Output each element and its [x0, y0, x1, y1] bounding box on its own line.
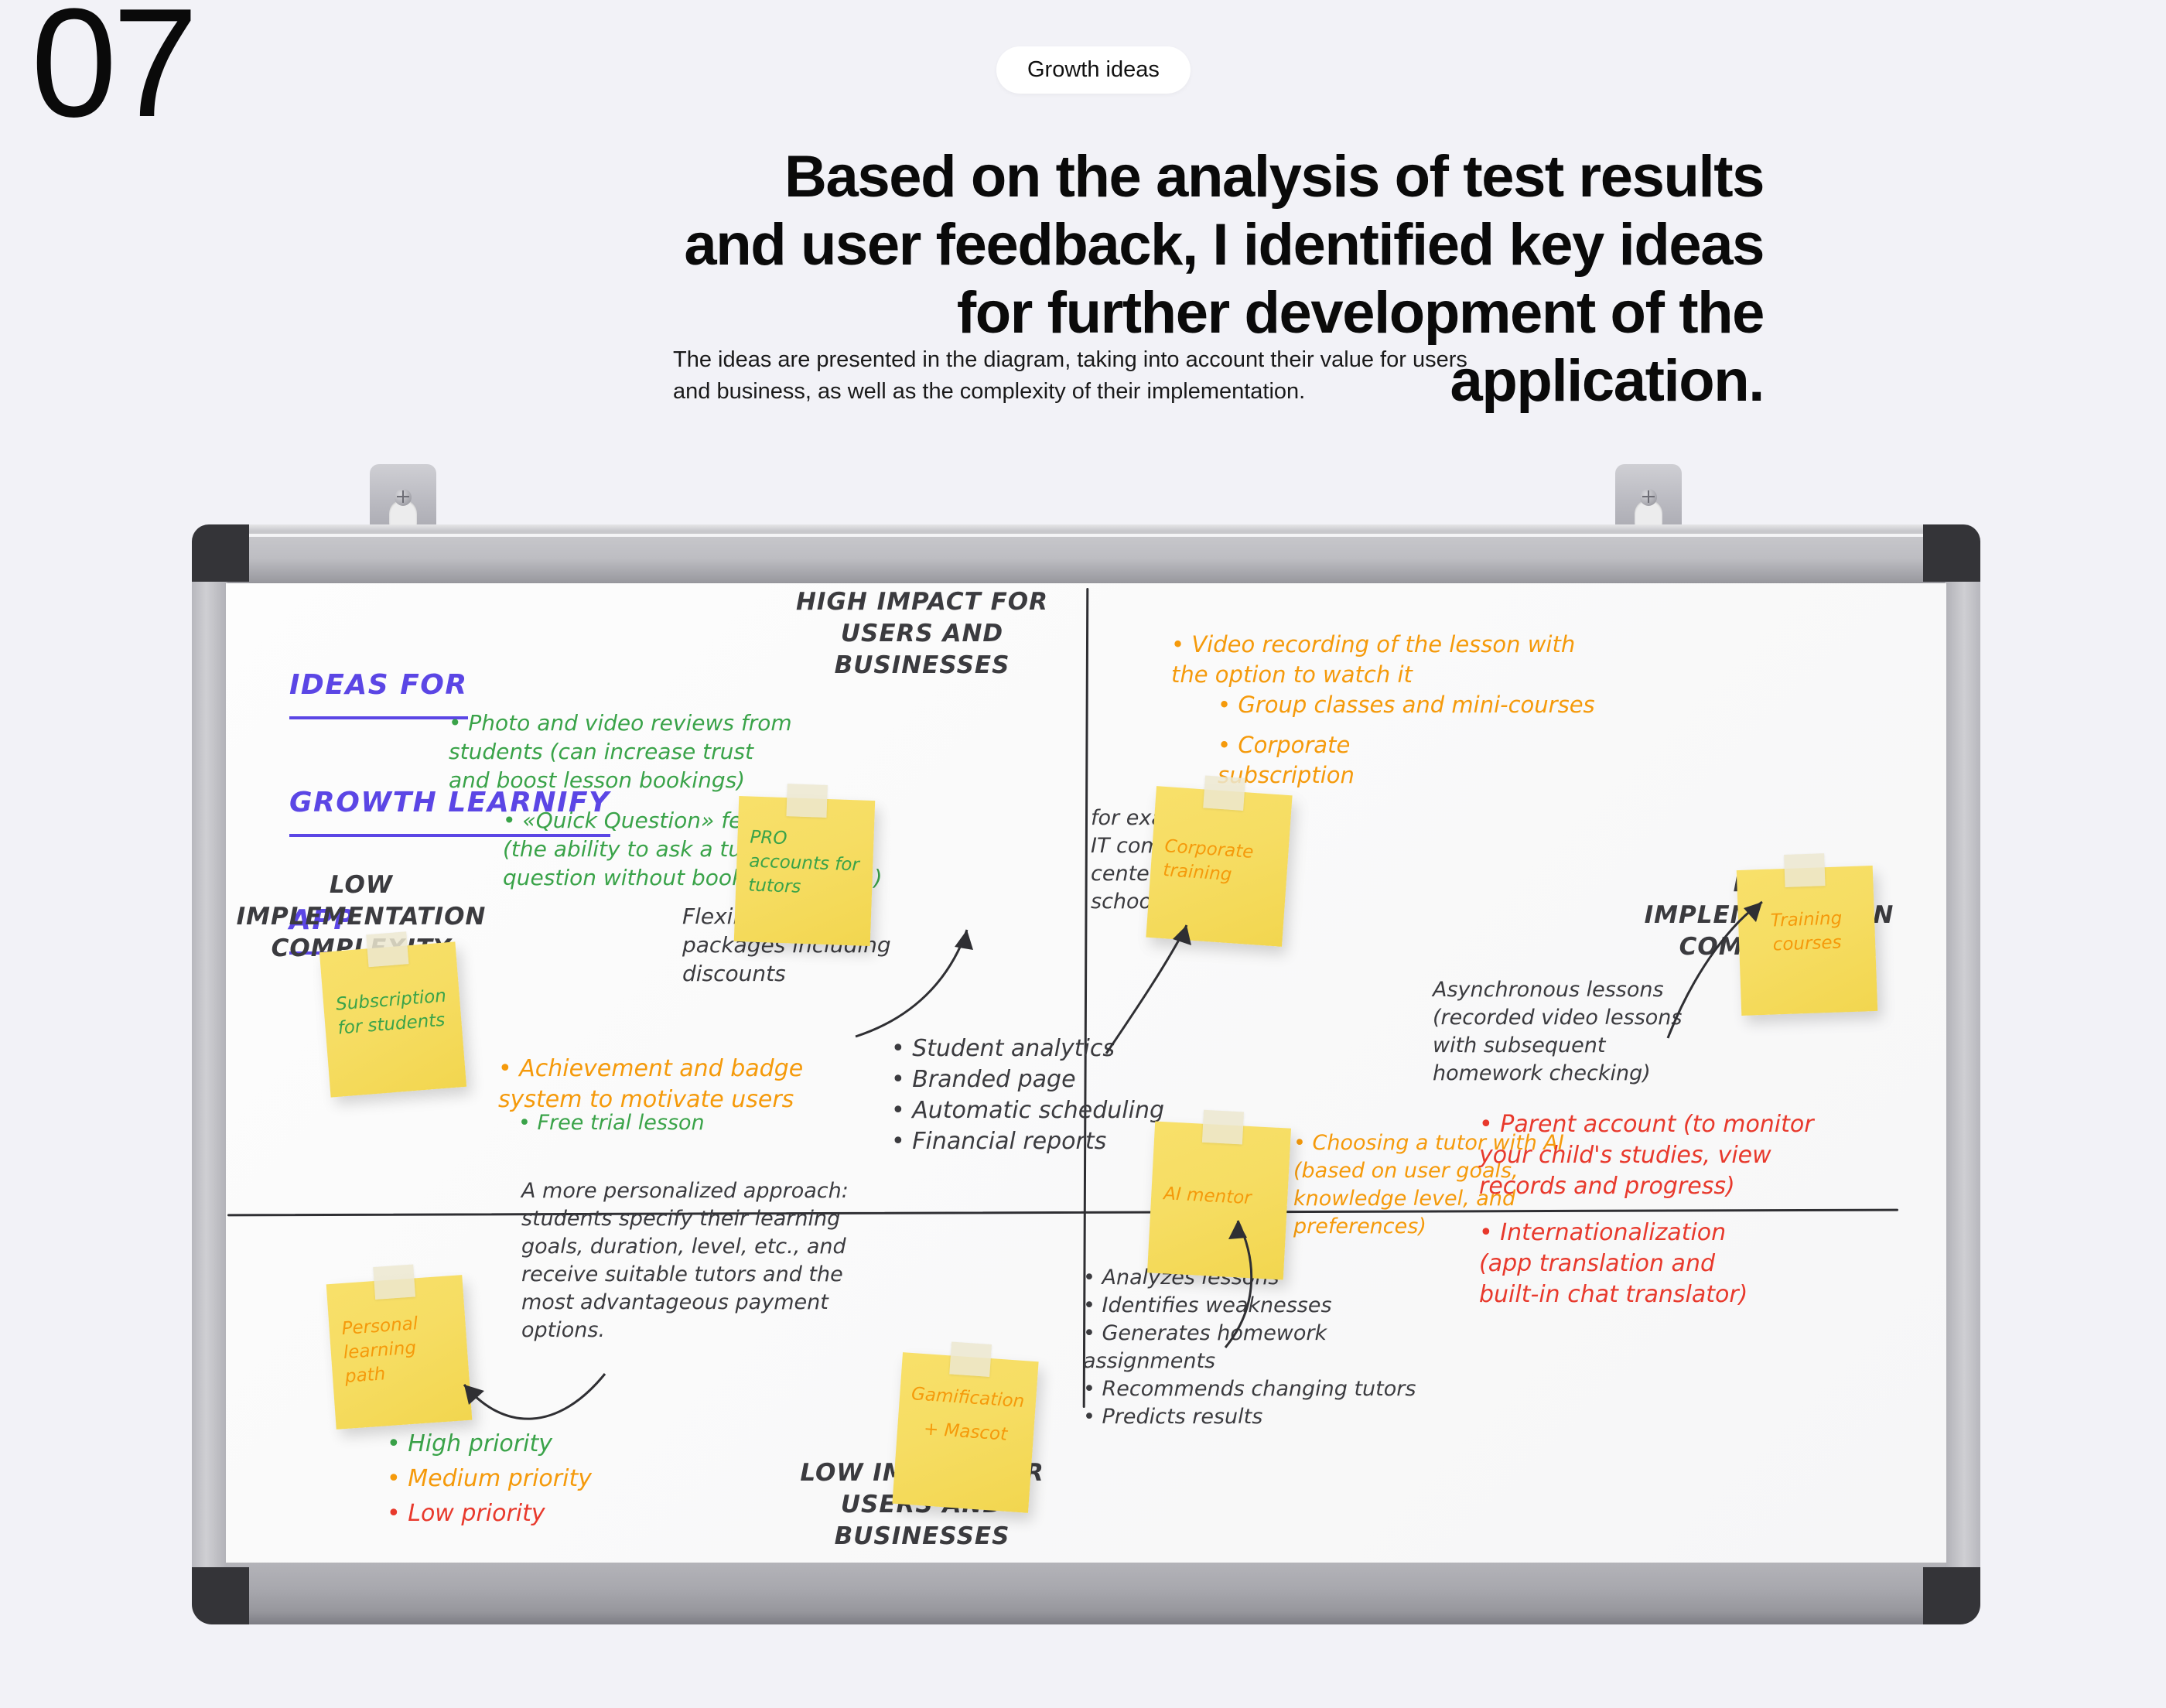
note-ai-capabilities: • Analyzes lessons • Identifies weakness…: [1083, 1264, 1416, 1430]
frame-corner-top-left: [192, 524, 249, 582]
sticky-subscription-for-students[interactable]: Subscription for students: [319, 941, 466, 1097]
screw-icon: [395, 489, 412, 506]
sticky-ai-mentor[interactable]: AI mentor: [1147, 1122, 1291, 1280]
sticky-corporate-training[interactable]: Corporate training: [1146, 786, 1292, 947]
note-video-recording: • Video recording of the lesson with the…: [1171, 630, 1575, 689]
note-personalized-approach: A more personalized approach: students s…: [521, 1177, 849, 1344]
axis-label-high-impact: HIGH IMPACT FOR USERS AND BUSINESSES: [783, 586, 1061, 682]
note-achievement-badges: • Achievement and badge system to motiva…: [498, 1054, 803, 1115]
frame-corner-bottom-left: [192, 1567, 249, 1624]
legend-low-priority: • Low priority: [387, 1496, 592, 1531]
section-badge: Growth ideas: [996, 46, 1191, 94]
tape-icon: [1202, 1110, 1244, 1145]
frame-left-rail: [192, 560, 227, 1589]
slide-number: 07: [31, 0, 193, 141]
sticky-gamification-mascot[interactable]: Gamification + Mascot: [892, 1352, 1038, 1513]
frame-bottom-rail: [223, 1559, 1949, 1624]
sticky-label: Gamification + Mascot: [901, 1377, 1033, 1454]
tape-icon: [786, 784, 827, 818]
sticky-label: Corporate training: [1162, 835, 1279, 890]
note-parent-account: • Parent account (to monitor your child'…: [1479, 1109, 1814, 1202]
tape-icon: [1784, 853, 1825, 887]
whiteboard-surface: IDEAS FOR GROWTH LEARNIFY APP HIGH IMPAC…: [226, 583, 1946, 1563]
whiteboard: IDEAS FOR GROWTH LEARNIFY APP HIGH IMPAC…: [192, 464, 1980, 1624]
board-title-line-1: IDEAS FOR: [289, 658, 468, 719]
note-asynchronous-lessons: Asynchronous lessons (recorded video les…: [1433, 976, 1682, 1088]
sticky-label: Subscription for students: [335, 984, 453, 1041]
frame-corner-top-right: [1923, 524, 1980, 582]
screw-icon: [1640, 489, 1657, 506]
priority-legend: • High priority • Medium priority • Low …: [387, 1426, 592, 1531]
legend-high-priority: • High priority: [387, 1426, 592, 1461]
sticky-label: Training courses: [1746, 906, 1868, 958]
tape-icon: [366, 931, 408, 967]
sticky-label: Personal learning path: [341, 1310, 460, 1389]
tape-icon: [373, 1264, 415, 1300]
page-subtitle: The ideas are presented in the diagram, …: [673, 344, 1493, 408]
note-group-classes: • Group classes and mini-courses: [1218, 690, 1595, 720]
sticky-pro-accounts-for-tutors[interactable]: PRO accounts for tutors: [734, 796, 875, 946]
note-photo-video-reviews: • Photo and video reviews from students …: [449, 709, 792, 795]
note-pro-account-details: • Student analytics • Branded page • Aut…: [891, 1033, 1164, 1157]
legend-medium-priority: • Medium priority: [387, 1461, 592, 1496]
quadrant-axis-horizontal: [227, 1209, 1898, 1217]
frame-right-rail: [1945, 560, 1980, 1589]
note-internationalization: • Internationalization (app translation …: [1479, 1218, 1747, 1310]
sticky-personal-learning-path[interactable]: Personal learning path: [326, 1275, 473, 1430]
tape-icon: [1203, 775, 1245, 811]
sticky-label: AI mentor: [1163, 1182, 1279, 1212]
frame-corner-bottom-right: [1923, 1567, 1980, 1624]
tape-icon: [949, 1341, 992, 1377]
whiteboard-frame: IDEAS FOR GROWTH LEARNIFY APP HIGH IMPAC…: [192, 524, 1980, 1624]
frame-top-rail: [223, 524, 1949, 586]
sticky-training-courses[interactable]: Training courses: [1737, 866, 1877, 1016]
sticky-label: PRO accounts for tutors: [748, 826, 865, 902]
